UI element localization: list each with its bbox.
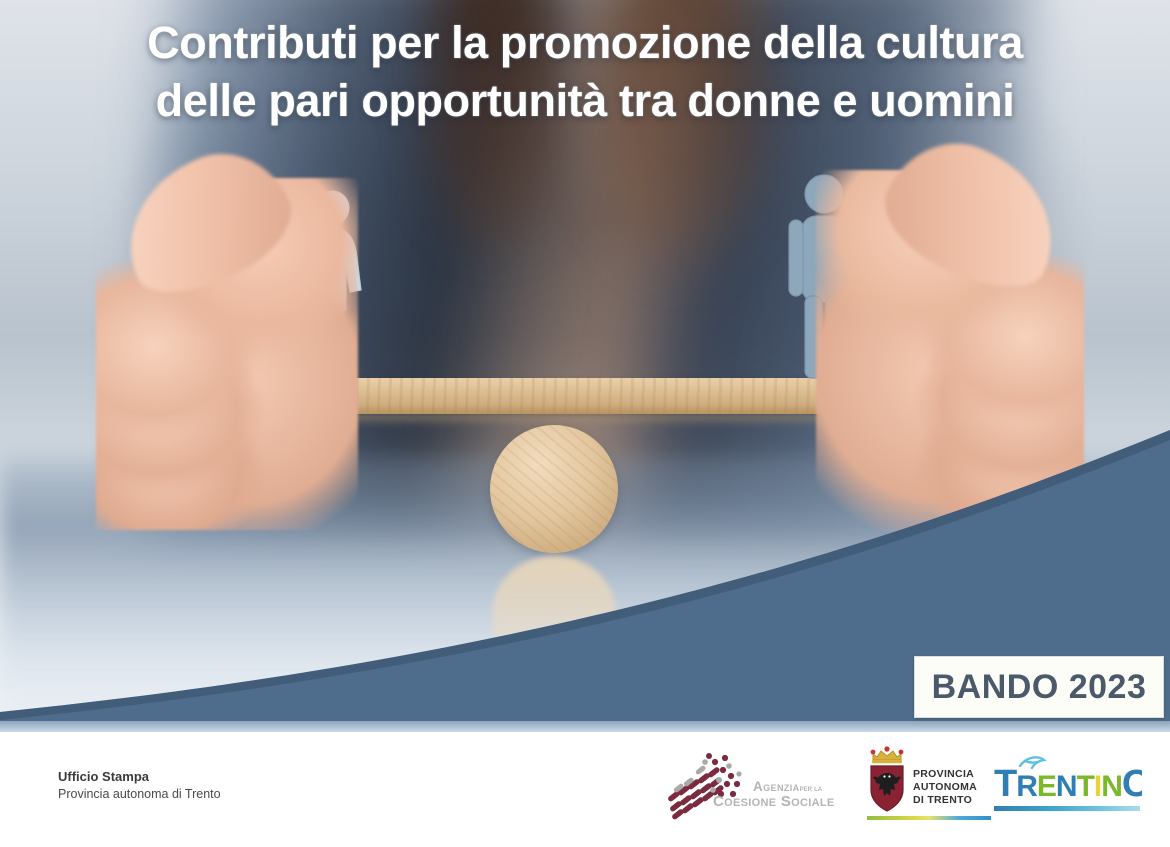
agenzia-wordmark-line1: Agenziaper la	[753, 780, 865, 794]
agenzia-word-agenzia: Agenzia	[753, 779, 800, 794]
provincia-autonoma-di-trento-logo: PROVINCIA AUTONOMA DI TRENTO	[865, 746, 995, 834]
trentino-bird-icon	[1020, 757, 1044, 768]
provincia-wordmark: PROVINCIA AUTONOMA DI TRENTO	[913, 768, 977, 806]
footer: Ufficio Stampa Provincia autonoma di Tre…	[0, 732, 1170, 847]
provincia-line3: DI TRENTO	[913, 794, 977, 807]
provincia-color-bar	[867, 816, 991, 820]
agenzia-wordmark: Agenziaper la Coesione Sociale	[753, 780, 865, 810]
poster-canvas: Contributi per la promozione della cultu…	[0, 0, 1170, 847]
trentino-color-bar	[994, 806, 1140, 811]
page-title: Contributi per la promozione della cultu…	[0, 14, 1170, 129]
title-line-1: Contributi per la promozione della cultu…	[0, 14, 1170, 72]
press-office-block: Ufficio Stampa Provincia autonoma di Tre…	[58, 768, 221, 802]
svg-text:TRENTINO: TRENTINO	[994, 763, 1142, 805]
agenzia-wordmark-line2: Coesione Sociale	[713, 794, 865, 810]
provincia-line1: PROVINCIA	[913, 768, 977, 781]
title-line-2: delle pari opportunità tra donne e uomin…	[0, 72, 1170, 130]
footer-logos: Agenziaper la Coesione Sociale	[660, 740, 1160, 840]
press-office-title: Ufficio Stampa	[58, 768, 221, 786]
section-divider-strip	[0, 721, 1170, 732]
trentino-wordmark-icon: TRENTINO	[992, 750, 1142, 808]
agenzia-word-perla: per la	[800, 784, 823, 793]
bando-badge: BANDO 2023	[914, 656, 1164, 718]
trentino-logo: TRENTINO	[992, 750, 1142, 830]
trento-eagle-shield-icon	[865, 746, 909, 814]
agenzia-coesione-sociale-logo: Agenziaper la Coesione Sociale	[665, 750, 860, 828]
bando-badge-label: BANDO 2023	[932, 668, 1147, 707]
press-office-subtitle: Provincia autonoma di Trento	[58, 786, 221, 803]
crown-icon	[871, 746, 904, 763]
hero-photo: Contributi per la promozione della cultu…	[0, 0, 1170, 729]
provincia-line2: AUTONOMA	[913, 781, 977, 794]
